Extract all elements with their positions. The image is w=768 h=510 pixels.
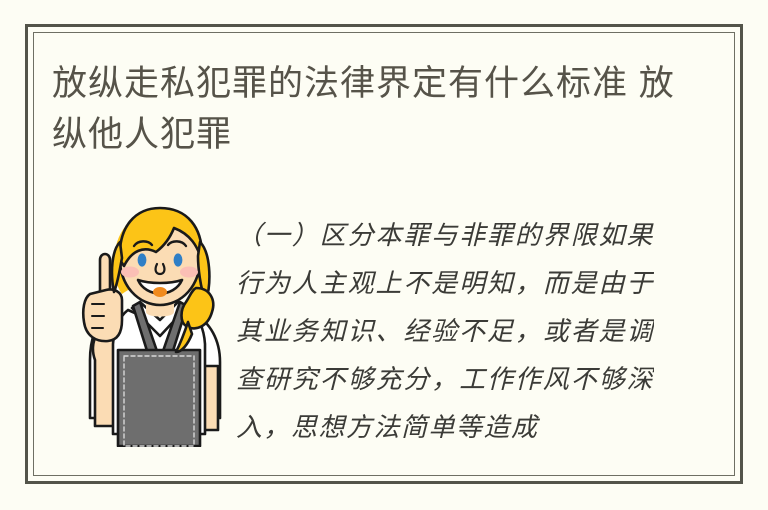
page-title: 放纵走私犯罪的法律界定有什么标准 放纵他人犯罪: [52, 58, 692, 160]
article-content: （一）区分本罪与非罪的界限如果行为人主观上不是明知，而是由于其业务知识、经验不足…: [33, 190, 735, 440]
article-body-paragraph: （一）区分本罪与非罪的界限如果行为人主观上不是明知，而是由于其业务知识、经验不足…: [236, 212, 654, 452]
eye-right: [174, 253, 183, 266]
cheek-right: [180, 267, 198, 278]
cheek-left: [121, 267, 139, 278]
article-card: 放纵走私犯罪的法律界定有什么标准 放纵他人犯罪: [0, 0, 768, 510]
apron-body: [118, 350, 200, 446]
cartoon-woman-pointing-up-illustration: [70, 202, 240, 447]
eye-left: [138, 253, 147, 266]
tongue: [153, 287, 167, 297]
